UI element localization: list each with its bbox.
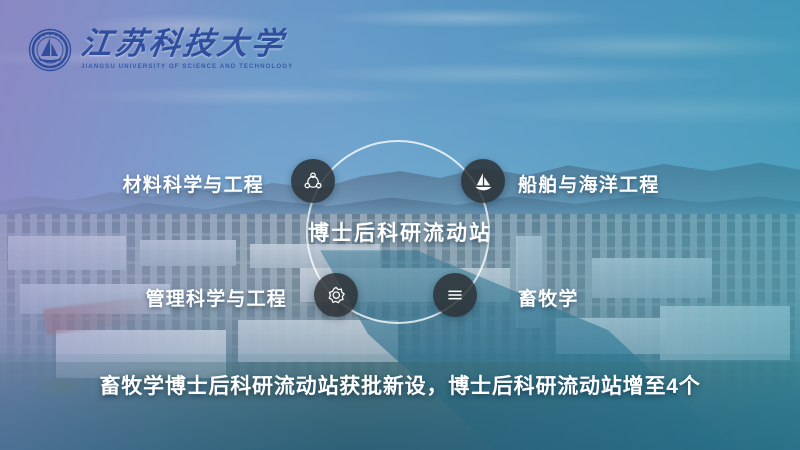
slide-canvas: 江苏科技大学 JIANGSU UNIVERSITY OF SCIENCE AND… bbox=[0, 0, 800, 450]
label-materials: 材料科学与工程 bbox=[123, 170, 264, 197]
sailboat-icon bbox=[472, 170, 495, 193]
node-husbandry[interactable] bbox=[433, 273, 477, 317]
node-materials[interactable] bbox=[291, 159, 335, 203]
gear-icon bbox=[325, 284, 347, 306]
caption-band bbox=[0, 354, 800, 450]
molecule-icon bbox=[302, 170, 324, 192]
node-naval[interactable] bbox=[461, 159, 505, 203]
list-lines-icon bbox=[444, 284, 466, 306]
label-husbandry: 畜牧学 bbox=[518, 284, 579, 311]
node-management[interactable] bbox=[314, 273, 358, 317]
label-naval: 船舶与海洋工程 bbox=[518, 170, 659, 197]
diagram-center-label: 博士后科研流动站 bbox=[308, 217, 492, 247]
caption-text: 畜牧学博士后科研流动站获批新设，博士后科研流动站增至4个 bbox=[0, 370, 800, 400]
label-management: 管理科学与工程 bbox=[146, 284, 287, 311]
